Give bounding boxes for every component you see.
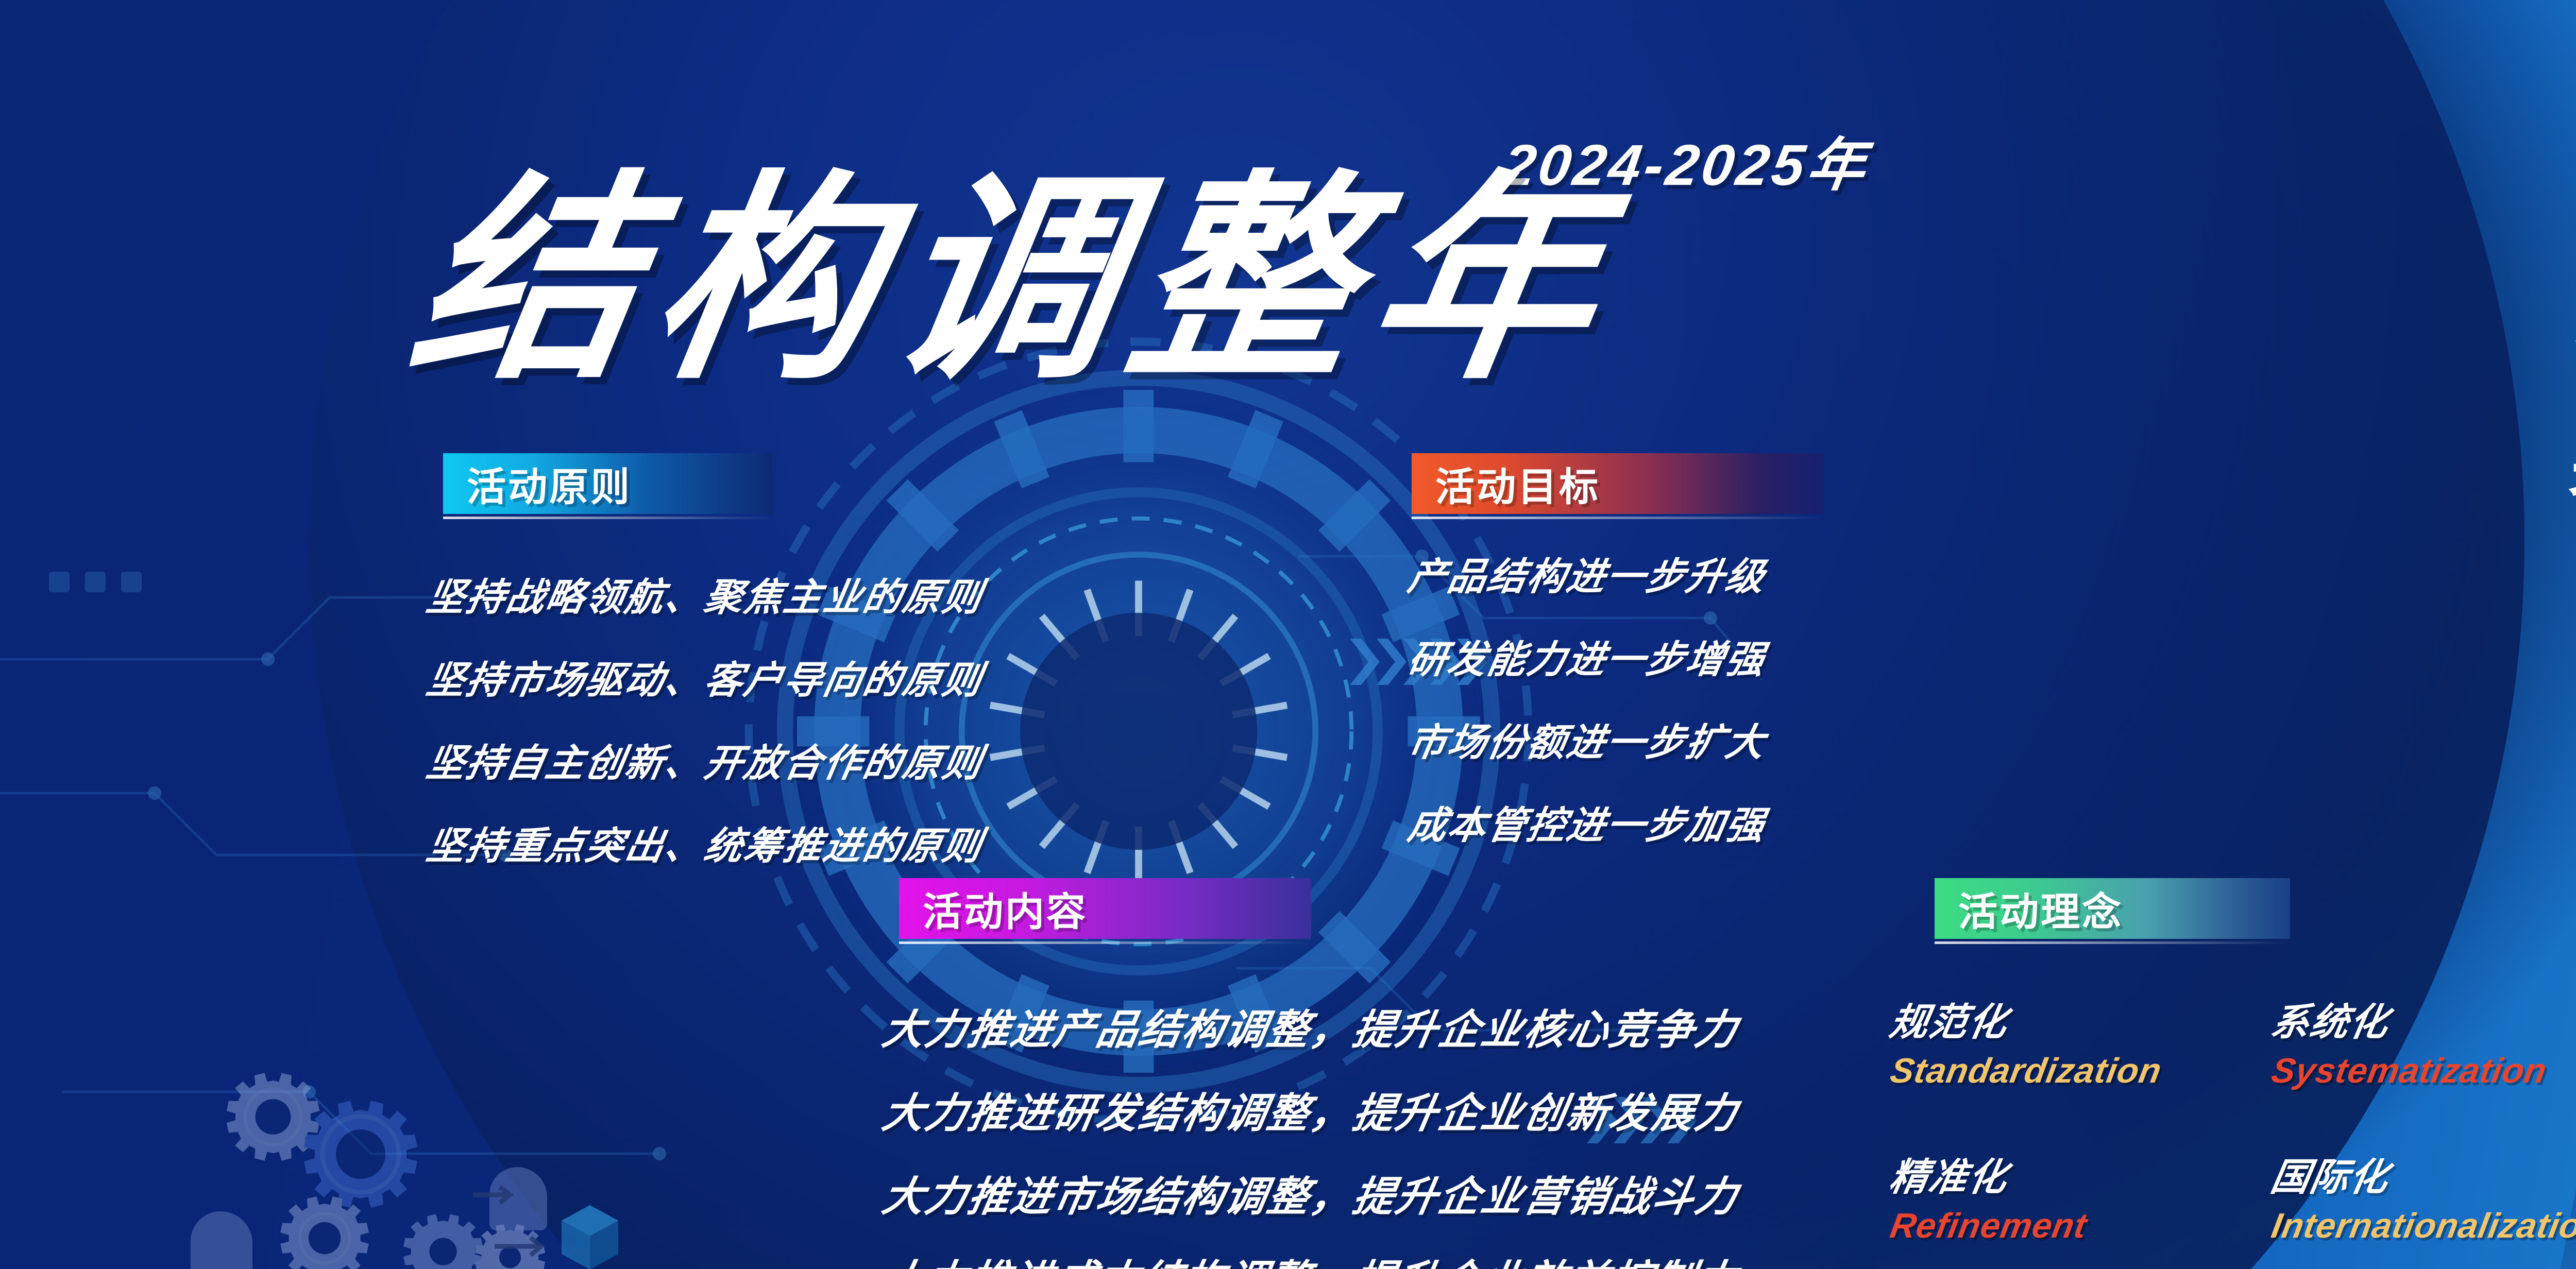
concept-item: 精准化 Refinement <box>1891 1146 2272 1246</box>
list-item: 大力推进成本结构调整，提升企业效益控制力 <box>878 1247 1744 1269</box>
concepts-grid: 规范化 Standardization 系统化 Systematization … <box>1891 991 2576 1246</box>
list-item: 大力推进研发结构调整，提升企业创新发展力 <box>878 1080 1744 1140</box>
list-item: 研发能力进一步增强 <box>1404 629 1771 684</box>
badge-concepts: 活动理念 <box>1935 878 2290 939</box>
concept-label-cn: 精准化 <box>1886 1146 2277 1202</box>
contents-list: 大力推进产品结构调整，提升企业核心竞争力 大力推进研发结构调整，提升企业创新发展… <box>884 997 1739 1269</box>
goals-list: 产品结构进一步升级 研发能力进一步增强 市场份额进一步扩大 成本管控进一步加强 <box>1409 546 1766 878</box>
list-item: 大力推进产品结构调整，提升企业核心竞争力 <box>878 997 1744 1056</box>
concept-label-en: Systematization <box>2268 1051 2576 1091</box>
list-item: 成本管控进一步加强 <box>1404 795 1771 850</box>
slogan-secondary: 奋进高质量发展新征程 <box>2568 430 2576 543</box>
list-item: 市场份额进一步扩大 <box>1404 712 1771 767</box>
principles-list: 坚持战略领航、聚焦主业的原则 坚持市场驱动、客户导向的原则 坚持自主创新、开放合… <box>428 567 983 898</box>
poster-canvas: 2024-2025年 结构调整年 活动原则 坚持战略领航、聚焦主业的原则 坚持市… <box>0 0 2576 1269</box>
badge-contents: 活动内容 <box>899 878 1311 939</box>
concept-label-cn: 规范化 <box>1886 991 2277 1047</box>
concept-label-en: Internationalization <box>2268 1206 2576 1246</box>
concept-item: 系统化 Systematization <box>2272 991 2576 1091</box>
list-item: 坚持重点突出、统筹推进的原则 <box>423 815 988 870</box>
concept-item: 规范化 Standardization <box>1891 991 2272 1091</box>
concept-label-en: Refinement <box>1887 1206 2276 1246</box>
badge-contents-label: 活动内容 <box>923 880 1088 937</box>
badge-goals: 活动目标 <box>1412 453 1824 514</box>
concept-item: 国际化 Internationalization <box>2272 1146 2576 1246</box>
concept-label-cn: 系统化 <box>2267 991 2576 1047</box>
slogan-primary: 调结构 促转型 提效益 <box>2564 252 2576 363</box>
badge-goals-label: 活动目标 <box>1435 455 1600 512</box>
list-item: 大力推进市场结构调整，提升企业营销战斗力 <box>878 1163 1744 1223</box>
list-item: 产品结构进一步升级 <box>1404 546 1771 601</box>
list-item: 坚持战略领航、聚焦主业的原则 <box>423 567 988 622</box>
badge-principles-label: 活动原则 <box>467 455 632 512</box>
concept-label-en: Standardization <box>1887 1051 2276 1091</box>
badge-principles: 活动原则 <box>443 453 773 514</box>
concept-label-cn: 国际化 <box>2267 1146 2576 1202</box>
page-title: 结构调整年 <box>400 170 1630 391</box>
list-item: 坚持市场驱动、客户导向的原则 <box>423 649 988 705</box>
badge-concepts-label: 活动理念 <box>1958 880 2123 937</box>
list-item: 坚持自主创新、开放合作的原则 <box>423 732 988 787</box>
